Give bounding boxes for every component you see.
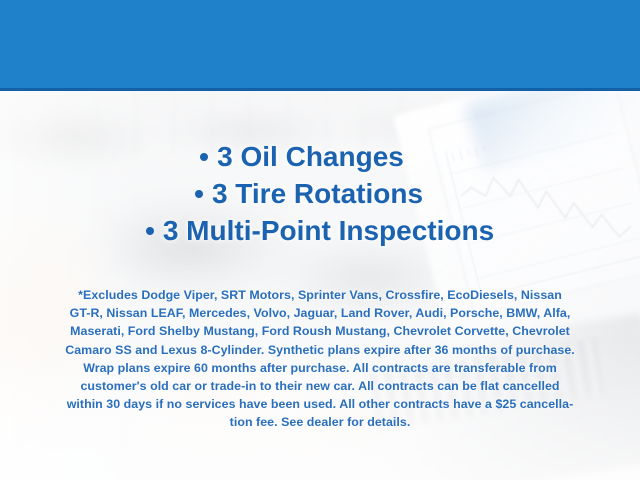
list-item: 3 Oil Changes [0, 138, 640, 175]
disclaimer-line: tion fee. See dealer for details. [18, 413, 622, 431]
disclaimer-text: *Excludes Dodge Viper, SRT Motors, Sprin… [18, 286, 622, 432]
benefit-label: 3 Tire Rotations [212, 178, 423, 209]
benefits-list: 3 Oil Changes 3 Tire Rotations 3 Multi-P… [0, 138, 640, 249]
list-item: 3 Tire Rotations [0, 175, 640, 212]
benefit-label: 3 Oil Changes [217, 141, 404, 172]
disclaimer-line: *Excludes Dodge Viper, SRT Motors, Sprin… [18, 286, 622, 304]
bullet-dot-icon [200, 153, 208, 161]
header-divider [0, 88, 640, 91]
list-item: 3 Multi-Point Inspections [0, 212, 640, 249]
benefit-label: 3 Multi-Point Inspections [163, 215, 494, 246]
disclaimer-line: Wrap plans expire 60 months after purcha… [18, 359, 622, 377]
bullet-dot-icon [146, 227, 154, 235]
header-banner [0, 0, 640, 88]
disclaimer-line: Maserati, Ford Shelby Mustang, Ford Rous… [18, 322, 622, 340]
extracare-package-poster: ExtraCare Package* 3 Oil Changes 3 Tire … [0, 0, 640, 480]
disclaimer-line: GT-R, Nissan LEAF, Mercedes, Volvo, Jagu… [18, 304, 622, 322]
disclaimer-line: customer's old car or trade-in to their … [18, 377, 622, 395]
disclaimer-line: Camaro SS and Lexus 8-Cylinder. Syntheti… [18, 341, 622, 359]
bullet-dot-icon [195, 190, 203, 198]
disclaimer-line: within 30 days if no services have been … [18, 395, 622, 413]
